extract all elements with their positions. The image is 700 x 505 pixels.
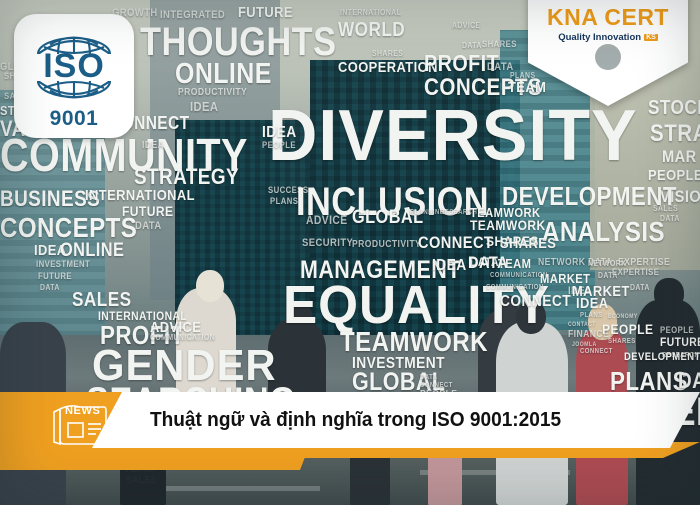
word-cloud-term: PEOPLE	[602, 322, 653, 336]
word-cloud-term: DATA	[40, 284, 60, 292]
newspaper-icon: NEWS	[48, 402, 110, 448]
word-cloud-term: FUTURE	[38, 272, 72, 281]
word-cloud-term: DATA	[135, 221, 162, 232]
word-cloud-term: ADVICE	[452, 22, 481, 30]
word-cloud-term: DATA	[462, 42, 482, 50]
word-cloud-term: THOUGHTS	[140, 22, 336, 62]
word-cloud-term: WORLD	[338, 20, 405, 40]
word-cloud-term: SHARES	[482, 40, 517, 49]
shield-cutout	[595, 44, 621, 70]
word-cloud-term: DATA	[468, 254, 508, 271]
word-cloud-term: CONCEPTS	[0, 214, 137, 242]
word-cloud-term: IDEA	[432, 258, 467, 274]
iso-badge-standard-number: 9001	[50, 107, 99, 130]
word-cloud-term: PRODUCTIVITY	[352, 240, 421, 250]
word-cloud-term: CONNECT	[418, 234, 493, 251]
word-cloud-term: FUTURE	[238, 5, 293, 20]
word-cloud-term: IDEA	[190, 100, 218, 113]
word-cloud-term: SECURITY	[302, 238, 353, 249]
word-cloud-term: CONTACT	[568, 322, 596, 328]
word-cloud-term: IDEA	[262, 125, 297, 141]
word-cloud-term: SALES	[72, 290, 132, 310]
article-thumbnail: GROWTHINTEGRATEDFUTURETHOUGHTSONLINEPROD…	[0, 0, 700, 505]
word-cloud-term: INTERNATIONAL	[85, 188, 195, 203]
word-cloud-term: CONNECT	[420, 382, 453, 389]
news-banner: NEWS Thuật ngữ và định nghĩa trong ISO 9…	[0, 392, 700, 470]
word-cloud-term: ECONOMY	[608, 314, 638, 320]
word-cloud-term: INTERNATIONAL	[340, 9, 401, 17]
word-cloud-term: NETWORK	[538, 258, 585, 268]
word-cloud-term: INVESTMENT	[36, 260, 90, 269]
word-cloud-term: ONLINE	[60, 241, 124, 260]
word-cloud-term: IDEA	[576, 296, 609, 311]
kna-logo-tagline: Quality InnovationKS	[528, 32, 688, 43]
globe-icon: ISO 9001	[20, 20, 128, 132]
word-cloud-term: CONNECT	[500, 294, 571, 310]
word-cloud-term: SALES	[126, 476, 157, 486]
word-cloud-term: PLANS	[270, 197, 298, 206]
kna-logo-mark: KS	[644, 34, 658, 41]
word-cloud-term: DEVELOPMENT	[624, 352, 700, 363]
word-cloud-term: IDEA	[142, 141, 164, 151]
news-badge-label: NEWS	[65, 405, 100, 417]
word-cloud-term: MAR	[662, 148, 697, 165]
word-cloud-term: COMMUNICATION	[486, 284, 544, 291]
iso-9001-badge: ISO 9001	[14, 14, 134, 138]
word-cloud-term: TEAMWORK	[470, 218, 546, 232]
word-cloud-term: ONLINE	[175, 60, 272, 89]
iso-badge-primary-text: ISO	[43, 47, 105, 85]
kna-tagline-text: Quality Innovation	[558, 32, 641, 43]
word-cloud-term: PEOPLE	[262, 141, 296, 150]
word-cloud-term: COOPERATION	[338, 60, 438, 75]
word-cloud-term: DATA	[420, 374, 438, 381]
word-cloud-term: PLANS	[580, 312, 603, 319]
word-cloud-term: EXPERTISE	[612, 268, 659, 277]
banner-headline: Thuật ngữ và định nghĩa trong ISO 9001:2…	[150, 402, 561, 438]
word-cloud-term: DIVERSITY	[268, 100, 638, 172]
word-cloud-term: TEAMWORK	[470, 206, 541, 219]
word-cloud-term: TEAMWORK	[340, 328, 488, 356]
word-cloud-term: SHARES	[500, 236, 556, 251]
kna-cert-logo[interactable]: KNA CERT Quality InnovationKS	[528, 0, 688, 106]
word-cloud-term: CONNECT	[580, 348, 613, 355]
word-cloud-term: DATA	[630, 284, 650, 292]
word-cloud-term: FUTURE	[660, 336, 700, 348]
kna-logo-title: KNA CERT	[528, 4, 688, 31]
word-cloud-term: SHARES	[608, 338, 636, 345]
word-cloud-term: SHARES	[372, 50, 403, 58]
word-cloud-term: ANALYSIS	[542, 218, 665, 246]
word-cloud-term: ADVICE	[306, 214, 348, 226]
word-cloud-term: PEOPLE	[660, 326, 694, 335]
word-cloud-term: PRODUCTIVITY	[178, 88, 247, 98]
word-cloud-term: DATA	[678, 370, 700, 392]
word-cloud-term: STRATEGY	[134, 166, 239, 188]
word-cloud-term: STRA	[650, 122, 700, 146]
